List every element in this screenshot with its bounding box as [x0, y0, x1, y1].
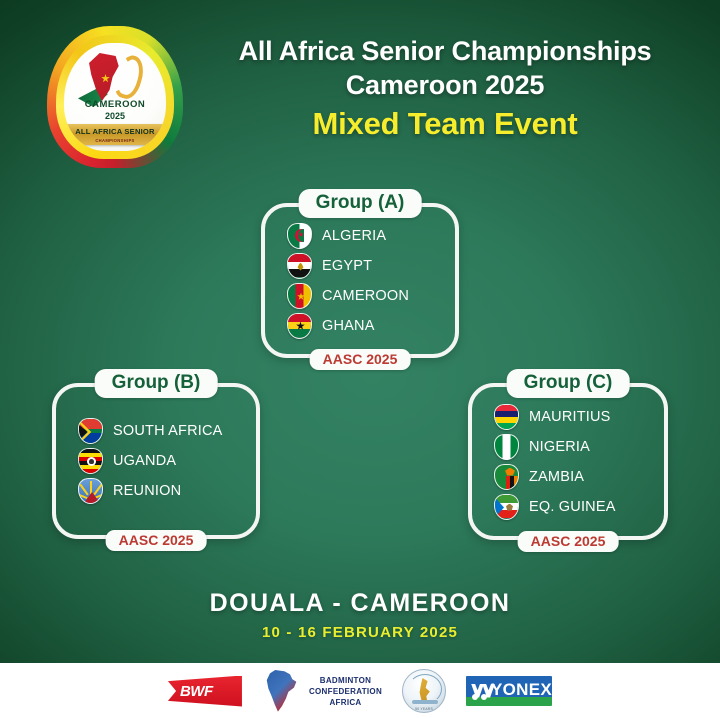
bca-text-line3: AFRICA — [309, 697, 382, 708]
yonex-logo-text: YONEX — [491, 680, 552, 700]
team-name: MAURITIUS — [529, 409, 611, 425]
championship-emblem-logo: CAMEROON 2025 ALL AFRICA SENIOR CHAMPION… — [47, 26, 183, 168]
emblem-year-text: 2025 — [64, 111, 166, 121]
cameroon-flag-icon — [287, 283, 312, 309]
anniversary-emblem-logo: 50 YEARS — [402, 669, 446, 713]
team-name: UGANDA — [113, 453, 176, 469]
team-name: EQ. GUINEA — [529, 499, 616, 515]
emblem-banner: ALL AFRICA SENIOR CHAMPIONSHIPS — [64, 124, 166, 145]
sponsor-bar: BWF BADMINTON CONFEDERATION AFRICA 50 YE… — [0, 663, 720, 719]
group-b-label: Group (B) — [95, 369, 218, 398]
emblem-face: CAMEROON 2025 ALL AFRICA SENIOR CHAMPION… — [64, 43, 166, 151]
poster-header: CAMEROON 2025 ALL AFRICA SENIOR CHAMPION… — [0, 0, 720, 180]
team-row: MAURITIUS — [494, 402, 664, 432]
bwf-logo-text: BWF — [180, 683, 213, 700]
group-c-team-list: MAURITIUS NIGERIA ZAMBIA EQ. GUINEA — [472, 402, 664, 522]
team-row: ZAMBIA — [494, 462, 664, 492]
reunion-flag-icon — [78, 478, 103, 504]
team-name: CAMEROON — [322, 288, 409, 304]
poster-title-block: All Africa Senior Championships Cameroon… — [190, 34, 700, 146]
title-line-3-event: Mixed Team Event — [190, 102, 700, 146]
team-name: ALGERIA — [322, 228, 386, 244]
poster-canvas: CAMEROON 2025 ALL AFRICA SENIOR CHAMPION… — [0, 0, 720, 719]
anniversary-base — [412, 700, 438, 704]
group-a-card: Group (A) ALGERIA EGYPT CAMEROON — [261, 203, 459, 358]
yonex-chevron-icon — [471, 684, 487, 699]
nigeria-flag-icon — [494, 434, 519, 460]
group-c-card: Group (C) MAURITIUS NIGERIA ZAMBIA — [468, 383, 668, 540]
africa-map-icon — [262, 670, 302, 712]
badminton-confederation-africa-logo: BADMINTON CONFEDERATION AFRICA — [262, 670, 382, 712]
team-name: SOUTH AFRICA — [113, 423, 223, 439]
team-row: EQ. GUINEA — [494, 492, 664, 522]
emblem-banner-line1: ALL AFRICA SENIOR — [64, 124, 166, 138]
group-c-label: Group (C) — [507, 369, 630, 398]
egypt-flag-icon — [287, 253, 312, 279]
team-row: NIGERIA — [494, 432, 664, 462]
team-row: EGYPT — [287, 251, 455, 281]
algeria-flag-icon — [287, 223, 312, 249]
bca-text-line2: CONFEDERATION — [309, 686, 382, 697]
team-name: EGYPT — [322, 258, 372, 274]
team-row: UGANDA — [78, 446, 256, 476]
team-name: NIGERIA — [529, 439, 590, 455]
yonex-logo: YONEX — [466, 676, 552, 706]
title-line-2: Cameroon 2025 — [190, 68, 700, 102]
south-africa-flag-icon — [78, 418, 103, 444]
team-row: SOUTH AFRICA — [78, 416, 256, 446]
uganda-flag-icon — [78, 448, 103, 474]
group-a-footer-badge: AASC 2025 — [310, 349, 411, 370]
bca-text-line1: BADMINTON — [309, 675, 382, 686]
equatorial-guinea-flag-icon — [494, 494, 519, 520]
team-name: GHANA — [322, 318, 375, 334]
emblem-banner-line2: CHAMPIONSHIPS — [64, 138, 166, 143]
group-b-team-list: SOUTH AFRICA UGANDA REUNION — [56, 416, 256, 506]
group-a-label: Group (A) — [299, 189, 422, 218]
bwf-logo: BWF — [168, 676, 242, 707]
venue-city: DOUALA - CAMEROON — [0, 589, 720, 618]
emblem-country-text: CAMEROON — [64, 99, 166, 110]
team-row: ALGERIA — [287, 221, 455, 251]
group-b-card: Group (B) SOUTH AFRICA UGANDA REUNI — [52, 383, 260, 539]
anniversary-caption: 50 YEARS — [403, 707, 445, 711]
bca-logo-text: BADMINTON CONFEDERATION AFRICA — [309, 675, 382, 708]
team-name: ZAMBIA — [529, 469, 584, 485]
venue-block: DOUALA - CAMEROON 10 - 16 FEBRUARY 2025 — [0, 589, 720, 641]
venue-dates: 10 - 16 FEBRUARY 2025 — [0, 624, 720, 641]
zambia-flag-icon — [494, 464, 519, 490]
team-row: GHANA — [287, 311, 455, 341]
group-b-footer-badge: AASC 2025 — [106, 530, 207, 551]
title-line-1: All Africa Senior Championships — [190, 34, 700, 68]
team-row: CAMEROON — [287, 281, 455, 311]
team-row: REUNION — [78, 476, 256, 506]
ghana-flag-icon — [287, 313, 312, 339]
group-a-team-list: ALGERIA EGYPT CAMEROON GHANA — [265, 221, 455, 341]
group-c-footer-badge: AASC 2025 — [518, 531, 619, 552]
team-name: REUNION — [113, 483, 181, 499]
mauritius-flag-icon — [494, 404, 519, 430]
